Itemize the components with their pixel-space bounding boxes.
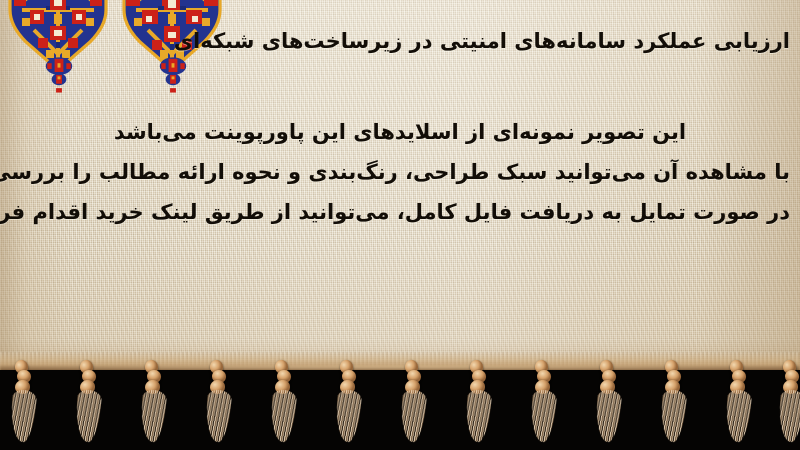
- slide-title: ارزیابی عملکرد سامانه‌های امنیتی در زیرس…: [230, 26, 790, 56]
- carpet-fringe-tassel: [10, 358, 40, 446]
- carpet-fringe-tassel: [335, 358, 365, 446]
- slide-body: این تصویر نمونه‌ای از اسلایدهای این پاور…: [10, 112, 790, 232]
- body-line-2: با مشاهده آن می‌توانید سبک طراحی، رنگ‌بن…: [10, 152, 790, 192]
- slide-canvas: ارزیابی عملکرد سامانه‌های امنیتی در زیرس…: [0, 0, 800, 450]
- carpet-pendant-motif-icon: [156, 50, 190, 94]
- carpet-fringe-tassel: [75, 358, 105, 446]
- tassel-skirt: [334, 389, 362, 443]
- carpet-fringe-tassel: [400, 358, 430, 446]
- tassel-skirt: [139, 389, 167, 443]
- tassel-skirt: [594, 389, 622, 443]
- body-line-3: در صورت تمایل به دریافت فایل کامل، می‌تو…: [10, 192, 790, 232]
- carpet-fringe-tassel: [530, 358, 560, 446]
- carpet-pendant-motif-icon: [42, 50, 76, 94]
- carpet-fringe-tassel: [205, 358, 235, 446]
- carpet-fringe-tassel: [725, 358, 755, 446]
- tassel-skirt: [659, 389, 687, 443]
- tassel-skirt: [464, 389, 492, 443]
- body-line-1: این تصویر نمونه‌ای از اسلایدهای این پاور…: [10, 112, 790, 152]
- carpet-fringe-tassel: [595, 358, 625, 446]
- tassel-skirt: [74, 389, 102, 443]
- carpet-fringe-tassel: [270, 358, 300, 446]
- tassel-skirt: [9, 389, 37, 443]
- tassel-skirt: [399, 389, 427, 443]
- tassel-skirt: [269, 389, 297, 443]
- carpet-fringe-tassel: [140, 358, 170, 446]
- tassel-skirt: [204, 389, 232, 443]
- tassel-skirt: [724, 389, 752, 443]
- tassel-skirt: [777, 389, 800, 443]
- carpet-fringe: [0, 358, 800, 450]
- carpet-fringe-tassel: [465, 358, 495, 446]
- carpet-fringe-tassel: [660, 358, 690, 446]
- tassel-skirt: [529, 389, 557, 443]
- carpet-fringe-tassel: [778, 358, 800, 446]
